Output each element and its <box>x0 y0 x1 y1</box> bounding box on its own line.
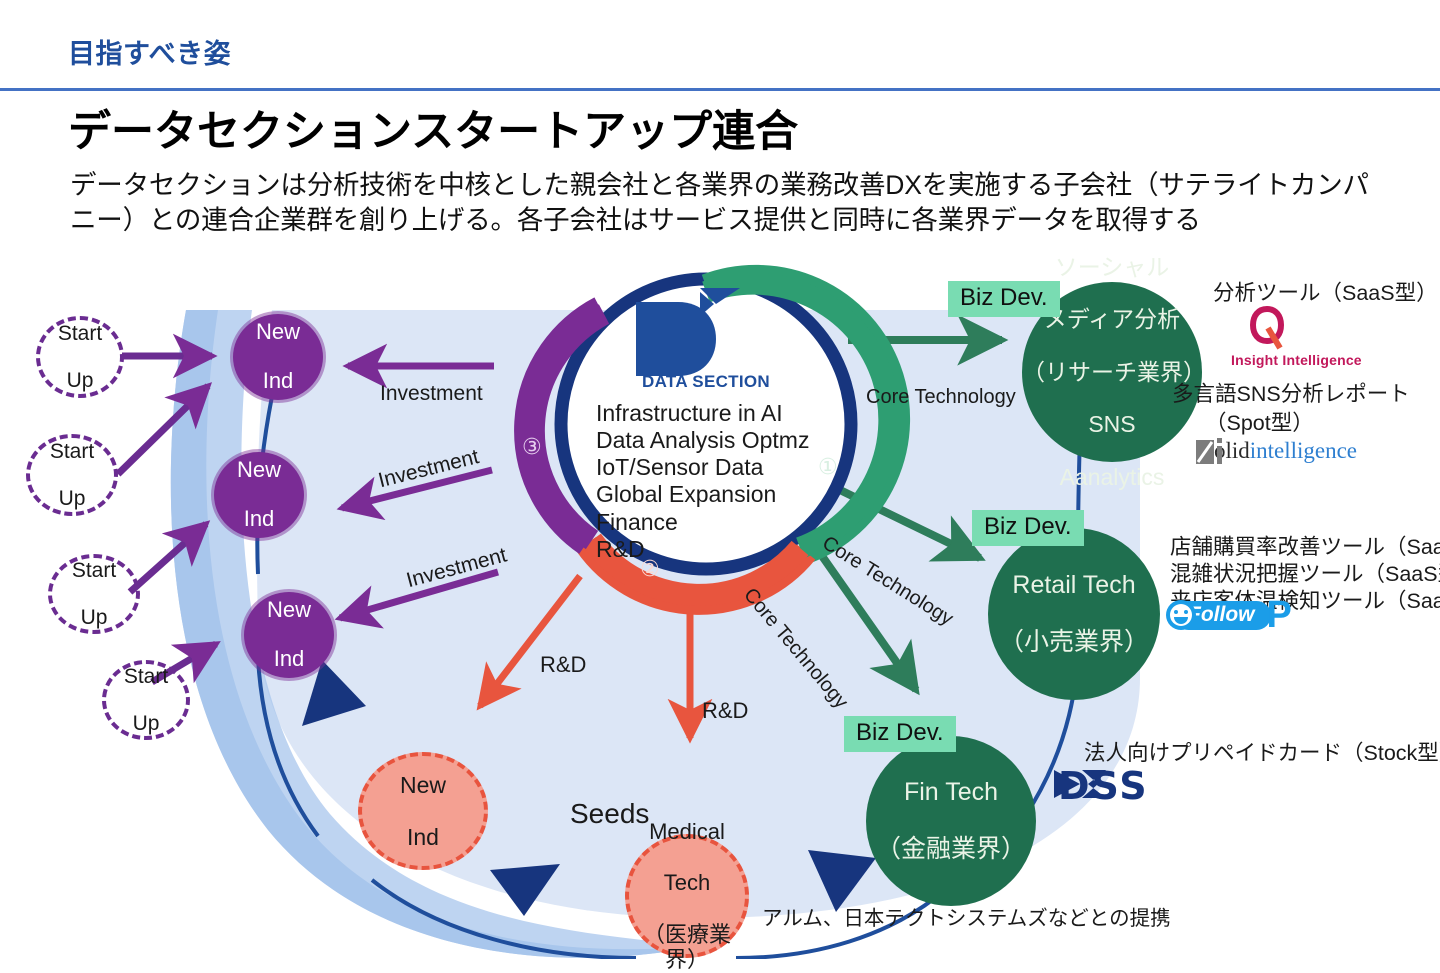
new-industry-label-line1: New <box>233 320 323 345</box>
product-note-medical: アルム、日本テクトシステムズなどとの提携 <box>762 906 1171 931</box>
product-note-sns-1: 分析ツール（SaaS型） <box>1213 280 1438 306</box>
satellite-label-line1: Fin Tech <box>866 778 1036 807</box>
satellite-label-line4: SNS <box>1022 411 1202 437</box>
ring-number-1: ① <box>818 454 838 480</box>
startup-label-line2: Up <box>52 606 136 630</box>
product-note-retail-2: 混雑状況把握ツール（SaaS型） <box>1170 561 1440 587</box>
edge-label-investment-1: Investment <box>380 382 483 406</box>
satellite-label-line2: Tech <box>629 870 745 896</box>
hub-capability-item: IoT/Sensor Data <box>596 454 809 481</box>
product-note-retail-1: 店舗購買率改善ツール（SaaS型） <box>1170 534 1440 560</box>
startup-node-4[interactable]: StartUp <box>102 660 190 740</box>
startup-label-line1: Start <box>52 559 136 583</box>
dss-logo-icon <box>1052 764 1124 804</box>
new-industry-node-2[interactable]: NewInd <box>214 452 304 538</box>
hub-content: DATA SECTION Infrastructure in AI Data A… <box>572 278 840 578</box>
startup-label-line1: Start <box>40 322 120 346</box>
insight-intelligence-wordmark: Insight Intelligence <box>1231 352 1362 368</box>
new-industry-label-line2: Ind <box>244 647 334 672</box>
solidintelligence-logo: solidintelligence <box>1196 438 1357 464</box>
edge-label-rd-2: R&D <box>702 698 748 724</box>
solidintelligence-logo-icon <box>1196 438 1226 466</box>
product-note-sns-2a: 多言語SNS分析レポート <box>1172 381 1410 407</box>
followup-logo: Follow P <box>1174 598 1292 632</box>
startup-label-line2: Up <box>30 487 114 511</box>
new-industry-label-line1: New <box>214 458 304 483</box>
hub-capability-list: Infrastructure in AI Data Analysis Optmz… <box>596 400 809 563</box>
data-section-wordmark: DATA SECTION <box>642 372 770 392</box>
product-note-sns-2b: （Spot型） <box>1205 410 1314 436</box>
satellite-label-line1: Retail Tech <box>988 571 1160 600</box>
insight-intelligence-logo-icon <box>1250 306 1284 352</box>
startup-node-2[interactable]: StartUp <box>26 434 118 516</box>
satellite-node-fin-tech[interactable]: Fin Tech （金融業界） <box>866 736 1036 906</box>
hub-capability-item: R&D <box>596 536 809 563</box>
ring-number-3: ③ <box>522 434 542 460</box>
hub-capability-item: Global Expansion <box>596 481 809 508</box>
intelligence-word: intelligence <box>1250 438 1357 463</box>
edge-label-rd-1: R&D <box>540 652 586 678</box>
hub-capability-item: Finance <box>596 509 809 536</box>
section-label: 目指すべき姿 <box>68 32 231 71</box>
satellite-node-retail-tech[interactable]: Retail Tech （小売業界） <box>988 528 1160 700</box>
new-industry-label-line2: Ind <box>233 369 323 394</box>
biz-dev-badge-retail: Biz Dev. <box>972 510 1084 546</box>
new-industry-label-line1: New <box>244 598 334 623</box>
new-industry-label-line1: New <box>362 772 484 798</box>
edge-label-seeds: Seeds <box>570 798 649 830</box>
satellite-label-line2: （金融業界） <box>866 835 1036 864</box>
dss-logo: DSS <box>1052 764 1149 808</box>
satellite-label-line2: （小売業界） <box>988 628 1160 657</box>
startup-label-line2: Up <box>40 369 120 393</box>
new-industry-label-line2: Ind <box>214 507 304 532</box>
new-industry-node-4[interactable]: NewInd <box>358 752 488 870</box>
new-industry-node-3[interactable]: NewInd <box>244 592 334 678</box>
lead-paragraph: データセクションは分析技術を中核とした親会社と各業界の業務改善DXを実施する子会… <box>70 168 1390 238</box>
startup-label-line1: Start <box>106 665 186 689</box>
satellite-node-medical-tech[interactable]: Medical Tech （医療業界） <box>625 834 749 958</box>
slide-root: 目指すべき姿 データセクションスタートアップ連合 データセクションは分析技術を中… <box>0 0 1440 959</box>
header-divider <box>0 88 1440 91</box>
diagram-canvas: DATA SECTION Infrastructure in AI Data A… <box>0 258 1440 959</box>
startup-label-line2: Up <box>106 712 186 736</box>
hub-capability-item: Data Analysis Optmz <box>596 427 809 454</box>
smiley-icon <box>1164 598 1198 632</box>
startup-label-line1: Start <box>30 440 114 464</box>
product-note-fin: 法人向けプリペイドカード（Stock型） <box>1084 740 1440 766</box>
new-industry-node-1[interactable]: NewInd <box>233 314 323 400</box>
startup-node-3[interactable]: StartUp <box>48 554 140 634</box>
satellite-label-line5: Aanalytics <box>1022 464 1202 490</box>
biz-dev-badge-sns: Biz Dev. <box>948 281 1060 317</box>
satellite-label-line1: ソーシャル <box>1022 254 1202 280</box>
followup-p-letter: P <box>1267 598 1292 632</box>
ring-number-2: ② <box>640 556 660 582</box>
edge-label-core-technology-1: Core Technology <box>866 386 1016 409</box>
page-title: データセクションスタートアップ連合 <box>68 97 798 159</box>
startup-node-1[interactable]: StartUp <box>36 316 124 398</box>
new-industry-label-line2: Ind <box>362 824 484 850</box>
solidintelligence-wordmark: solidintelligence <box>1205 438 1357 464</box>
biz-dev-badge-fin: Biz Dev. <box>844 716 956 752</box>
satellite-label-line3: （医療業界） <box>629 922 745 973</box>
hub-capability-item: Infrastructure in AI <box>596 400 809 427</box>
